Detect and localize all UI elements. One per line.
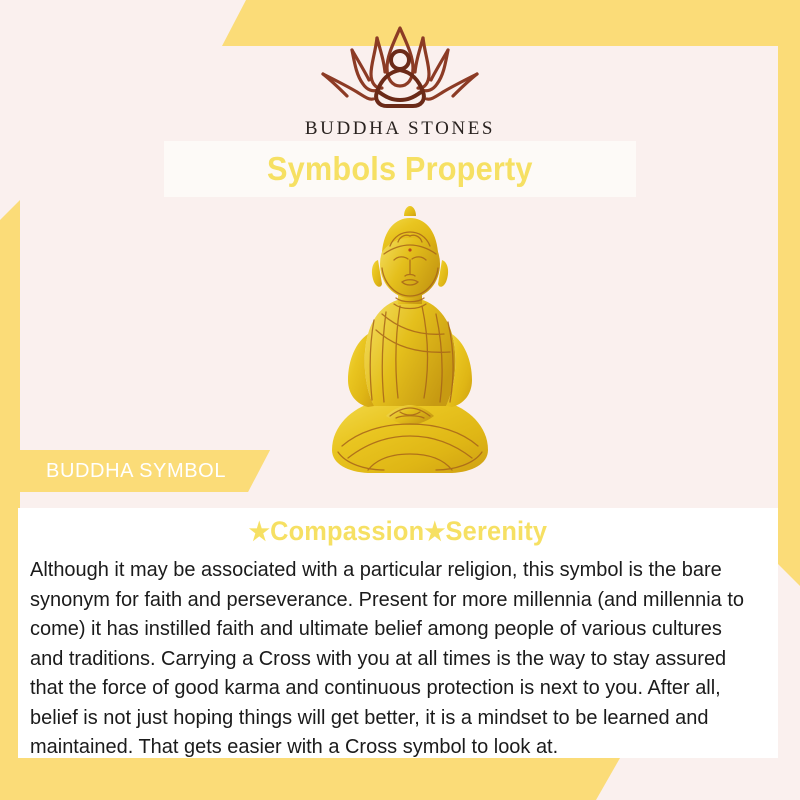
page-title: Symbols Property (267, 150, 533, 188)
seated-buddha-statue-illustration (312, 202, 508, 492)
infographic-page: BUDDHA STONES Symbols Property (0, 0, 800, 800)
description-paragraph: Although it may be associated with a par… (30, 556, 755, 763)
star-icon-2: ★ (424, 518, 445, 546)
attribute-serenity: Serenity (446, 516, 548, 546)
brand-name: BUDDHA STONES (0, 118, 800, 140)
lotus-meditation-figure-icon (307, 22, 493, 114)
section-ribbon: BUDDHA SYMBOL (18, 450, 270, 492)
attribute-compassion: Compassion (270, 516, 424, 546)
decor-band-left (0, 200, 20, 800)
title-banner: Symbols Property (164, 141, 636, 197)
star-icon-1: ★ (249, 518, 270, 546)
content-panel: ★Compassion★Serenity Although it may be … (18, 508, 778, 758)
brand-header: BUDDHA STONES (0, 22, 800, 140)
ribbon-label: BUDDHA SYMBOL (46, 460, 226, 483)
decor-band-bottom (0, 758, 620, 800)
attributes-subtitle: ★Compassion★Serenity (41, 516, 755, 547)
buddha-statue-image (312, 202, 508, 492)
